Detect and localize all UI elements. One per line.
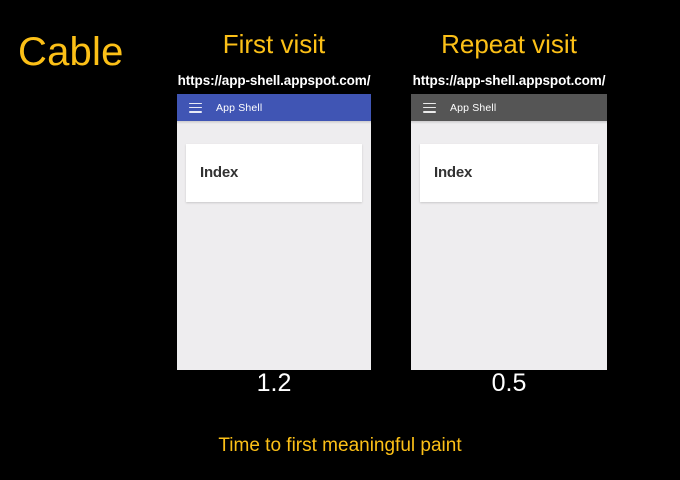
app-bar-repeat-visit: App Shell (411, 94, 607, 121)
app-bar-title: App Shell (216, 102, 262, 114)
phone-screenshot-first-visit: App Shell Index (177, 94, 371, 370)
url-label-first-visit: https://app-shell.appspot.com/ (177, 72, 371, 90)
app-bar-first-visit: App Shell (177, 94, 371, 121)
url-label-repeat-visit: https://app-shell.appspot.com/ (411, 72, 607, 90)
column-heading-first-visit: First visit (177, 28, 371, 60)
slide-title: Cable (18, 30, 124, 74)
app-bar-title: App Shell (450, 102, 496, 114)
column-heading-repeat-visit: Repeat visit (411, 28, 607, 60)
index-card[interactable]: Index (420, 144, 598, 202)
hamburger-icon[interactable] (423, 103, 436, 113)
slide-canvas: Cable First visit https://app-shell.apps… (0, 0, 680, 480)
index-card-label: Index (200, 164, 238, 182)
index-card-label: Index (434, 164, 472, 182)
metric-value-first-visit: 1.2 (177, 368, 371, 398)
phone-content-first-visit: Index (177, 124, 371, 370)
phone-screenshot-repeat-visit: App Shell Index (411, 94, 607, 370)
hamburger-icon[interactable] (189, 103, 202, 113)
phone-content-repeat-visit: Index (411, 124, 607, 370)
slide-caption: Time to first meaningful paint (0, 434, 680, 458)
index-card[interactable]: Index (186, 144, 362, 202)
metric-value-repeat-visit: 0.5 (411, 368, 607, 398)
